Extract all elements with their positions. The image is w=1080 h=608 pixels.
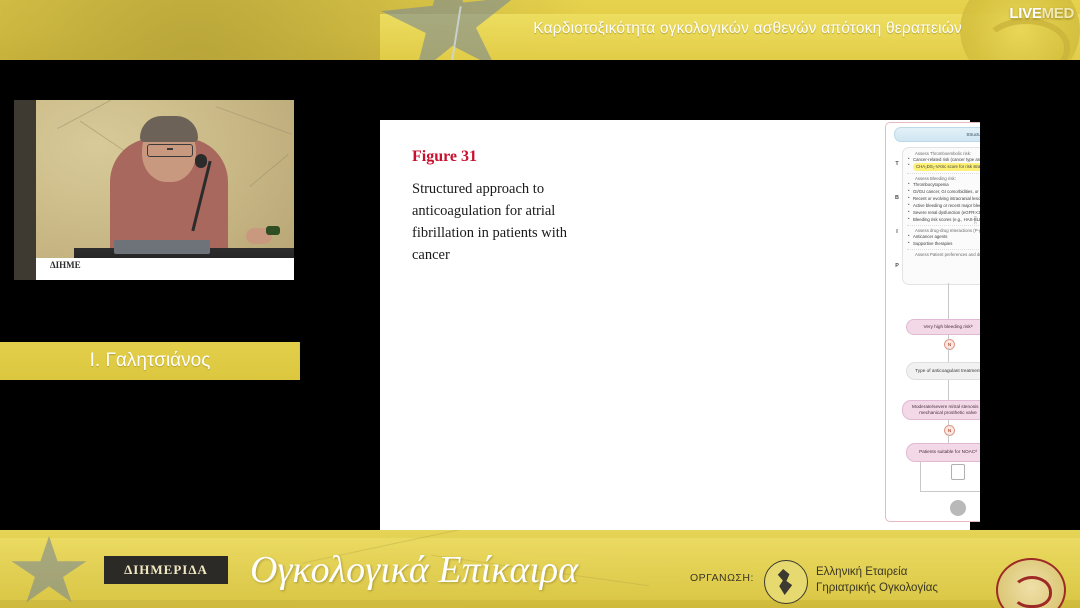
tbip-column: T B I P	[892, 147, 902, 283]
connector	[948, 283, 949, 319]
livemed-live-text: LIVE	[1009, 5, 1041, 22]
bleeding-bullet: Recent or evolving intracranial lesions	[908, 196, 980, 202]
assessment-box: Assess Thromboembolic risk: Cancer-relat…	[902, 147, 980, 285]
bleeding-bullet: Severe renal dysfunction (eGFR <30 mL/mi…	[908, 210, 980, 216]
interaction-bullet: Anticancer agents	[908, 234, 980, 240]
bleeding-bullet: Bleeding risk scores (e.g., HAS-BLED)	[908, 217, 980, 223]
connector	[920, 462, 921, 491]
tbip-label-t: T	[895, 161, 898, 167]
session-title: Καρδιοτοξικότητα ογκολογικών ασθενών από…	[533, 0, 962, 60]
slide-side-credit: © ESC	[973, 210, 978, 224]
organizer-name-line-2: Γηριατρικής Ογκολογίας	[816, 580, 938, 596]
tbip-label-p: P	[895, 263, 899, 269]
presenter-clicker	[266, 226, 280, 235]
divider	[907, 249, 980, 250]
microphone-icon	[195, 154, 207, 168]
flowchart-header: Structured approach to anticoagulation f…	[894, 127, 980, 142]
event-type-badge: ΔΙΗΜΕΡΙΔΑ	[104, 556, 228, 584]
thromboembolic-heading: Assess Thromboembolic risk:	[915, 151, 980, 156]
laptop	[114, 240, 210, 254]
speaker-name: Ι. Γαλητσιάνος	[90, 350, 211, 372]
branch-no-1: N	[944, 339, 955, 350]
tbip-label-i: I	[896, 229, 898, 235]
organizer-name: Ελληνική Εταιρεία Γηριατρικής Ογκολογίας	[816, 564, 938, 596]
branch-no-2: N	[944, 425, 955, 436]
bleeding-heading: Assess Bleeding risk:	[915, 176, 980, 181]
thrombo-bullet: Cancer-related risk (cancer type and sta…	[908, 157, 980, 163]
node-type-of-treatment[interactable]: Type of anticoagulant treatment	[906, 362, 980, 380]
scroll-indicator-icon[interactable]	[951, 464, 965, 480]
livemed-logo: LIVEMED	[1009, 5, 1074, 22]
node-patients-suitable-noac[interactable]: Patients suitable for NOACᵈ	[906, 443, 980, 462]
node-very-high-bleeding-risk[interactable]: Very high bleeding riskᵇ	[906, 319, 980, 335]
interaction-bullet: Supportive therapies	[908, 241, 980, 247]
stage-area: ΔΙΗΜΕ Ι. Γαλητσιάνος Figure 31 Structure…	[0, 60, 1080, 530]
connector	[948, 335, 949, 339]
figure-caption: Structured approach to anticoagulation f…	[412, 178, 572, 266]
event-type-text: ΔΙΗΜΕΡΙΔΑ	[124, 562, 208, 578]
tbip-label-b: B	[895, 195, 899, 201]
organizer-logo-icon	[764, 560, 808, 604]
event-title: Ογκολογικά Επίκαιρα	[250, 548, 578, 592]
connector	[948, 434, 949, 443]
presentation-slide[interactable]: Figure 31 Structured approach to anticoa…	[300, 60, 980, 530]
highlight: CHA₂DS₂-VASc score for risk stratificati…	[913, 163, 980, 170]
connector	[948, 420, 949, 425]
glasses-icon	[147, 144, 193, 157]
flowchart: Structured approach to anticoagulation f…	[885, 122, 980, 522]
top-banner: Καρδιοτοξικότητα ογκολογικών ασθενών από…	[0, 0, 1080, 60]
thrombo-bullet-highlighted: CHA₂DS₂-VASc score for risk stratificati…	[908, 163, 980, 170]
speaker-video[interactable]: ΔΙΗΜΕ	[14, 100, 294, 280]
connector	[920, 491, 980, 492]
divider	[907, 173, 980, 174]
scroll-thumb[interactable]	[950, 500, 966, 516]
speaker-hair	[140, 116, 198, 142]
bleeding-bullet: Thrombocytopenia	[908, 182, 980, 188]
video-caption-text: ΔΙΗΜΕ	[50, 260, 81, 270]
livemed-med-text: MED	[1042, 5, 1074, 22]
divider	[907, 225, 980, 226]
bleeding-bullet: GI/GU cancer, GI comorbidities, or GI to…	[908, 189, 980, 195]
patient-heading: Assess Patient preferences and drug avai…	[915, 252, 980, 257]
organizer-name-line-1: Ελληνική Εταιρεία	[816, 564, 938, 580]
connector	[948, 380, 949, 400]
interactions-heading: Assess drug-drug Interactions (P-glycopr…	[915, 228, 980, 233]
bottom-banner: ΔΙΗΜΕΡΙΔΑ Ογκολογικά Επίκαιρα ΟΡΓΑΝΩΣΗ: …	[0, 530, 1080, 608]
connector	[948, 348, 949, 362]
organizer-label: ΟΡΓΑΝΩΣΗ:	[690, 572, 754, 584]
node-mitral-stenosis[interactable]: Moderate/severe mitral stenosis or mecha…	[902, 400, 980, 420]
bleeding-bullet: Active bleeding or recent major bleeding	[908, 203, 980, 209]
figure-label: Figure 31	[412, 148, 477, 166]
video-left-panel	[14, 100, 36, 280]
speaker-nameplate: Ι. Γαλητσιάνος	[0, 342, 300, 380]
